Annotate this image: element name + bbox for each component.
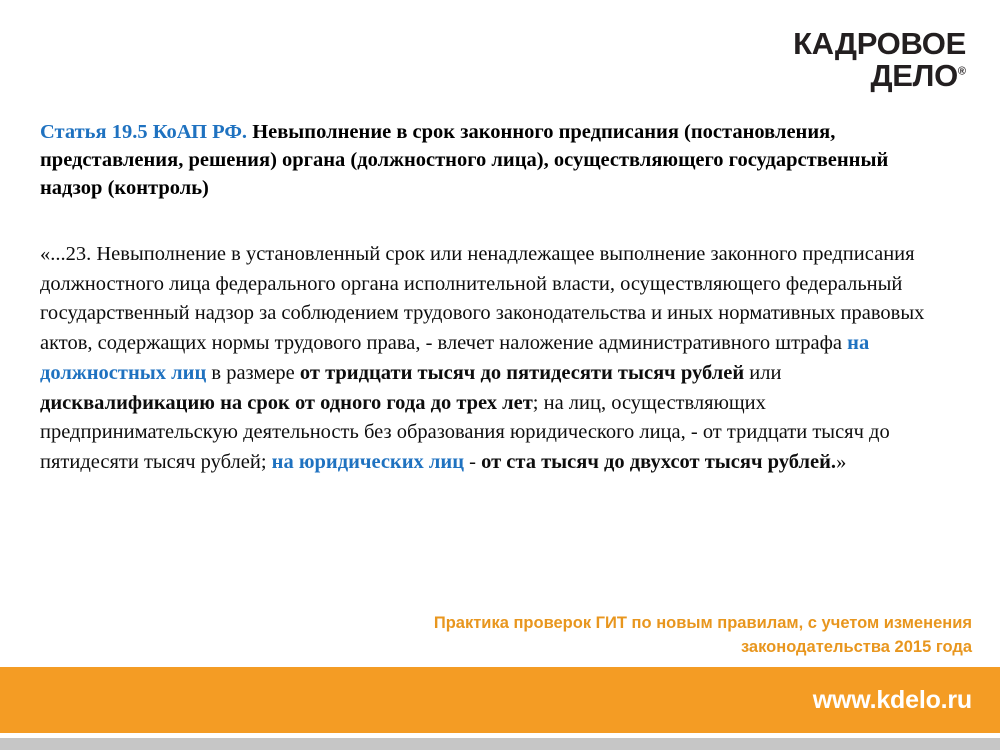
title-article-reference: Статья 19.5 КоАП РФ.: [40, 121, 247, 143]
presentation-slide: КАДРОВОЕ ДЕЛО® Статья 19.5 КоАП РФ. Невы…: [0, 0, 1000, 750]
quote-segment: в размере: [206, 362, 300, 384]
quote-emphasis-fine-range: от тридцати тысяч до пятидесяти тысяч ру…: [300, 362, 744, 384]
slide-title: Статья 19.5 КоАП РФ. Невыполнение в срок…: [40, 118, 945, 202]
logo-line-1: КАДРОВОЕ: [793, 28, 966, 60]
logo-line-2: ДЕЛО®: [793, 60, 966, 92]
brand-logo: КАДРОВОЕ ДЕЛО®: [793, 28, 966, 91]
quote-emphasis-disqualification: дисквалификацию на срок от одного года д…: [40, 392, 533, 414]
quote-closing-quote: »: [836, 451, 846, 473]
registered-trademark-icon: ®: [958, 65, 966, 77]
law-quote-paragraph: «...23. Невыполнение в установленный сро…: [40, 240, 952, 478]
logo-line-2-text: ДЕЛО: [870, 58, 957, 93]
quote-segment: «...23. Невыполнение в установленный сро…: [40, 243, 924, 354]
quote-highlight-legal-entities: на юридических лиц: [272, 451, 464, 473]
quote-segment: или: [744, 362, 781, 384]
site-url-link[interactable]: www.kdelo.ru: [813, 686, 972, 715]
quote-segment: -: [464, 451, 481, 473]
footer-caption-line-1: Практика проверок ГИТ по новым правилам,…: [292, 612, 972, 636]
footer-gray-bar: [0, 738, 1000, 750]
quote-emphasis-entity-fine-range: от ста тысяч до двухсот тысяч рублей.: [481, 451, 836, 473]
footer-caption: Практика проверок ГИТ по новым правилам,…: [292, 612, 972, 660]
footer-caption-line-2: законодательства 2015 года: [292, 636, 972, 660]
